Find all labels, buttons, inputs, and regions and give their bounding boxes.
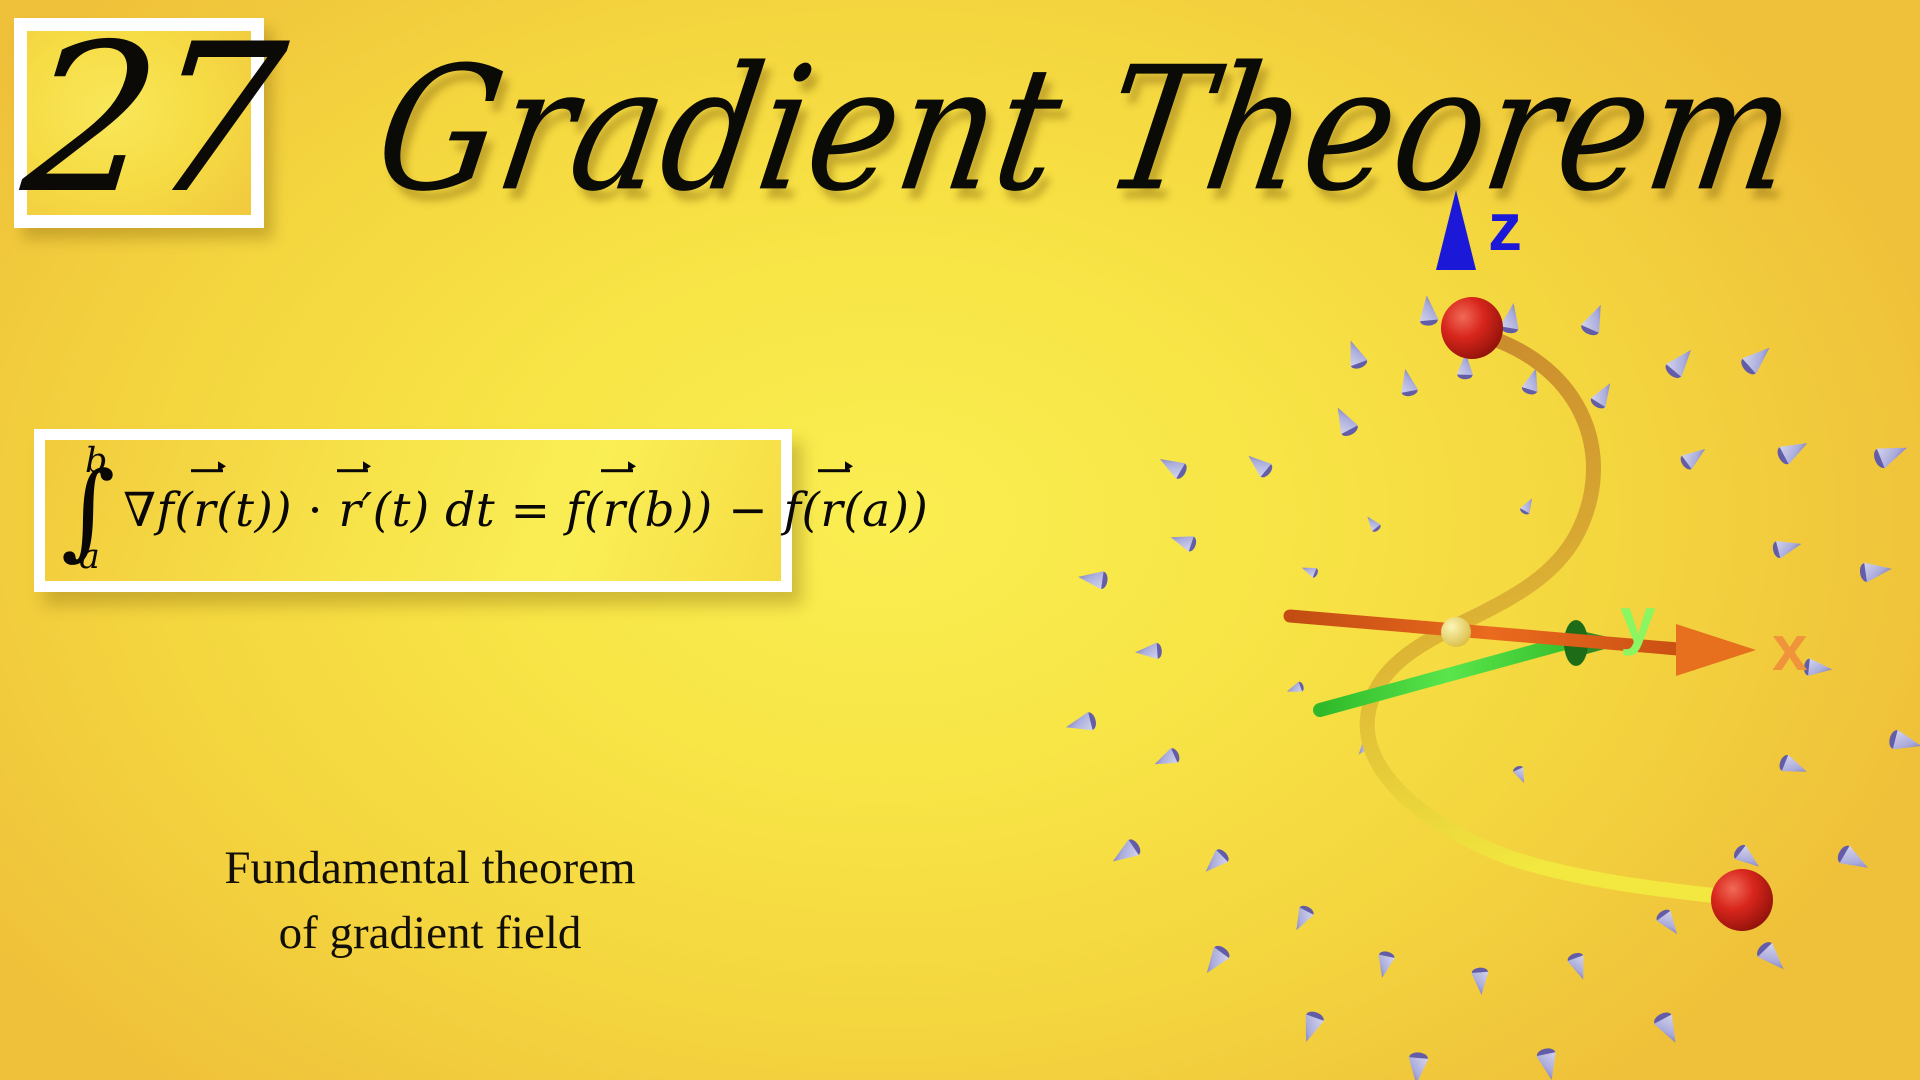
vector-r-1: r: [193, 483, 216, 538]
vector-arrow-tip-3: [628, 461, 636, 471]
arg-t-1: (t)): [216, 483, 292, 538]
origin-marker: [1441, 617, 1471, 647]
nabla-symbol: ∇: [123, 483, 156, 538]
integral-lower-limit: a: [79, 542, 100, 574]
vector-r-2: r: [339, 483, 362, 538]
vector-field-arrows: [1064, 294, 1920, 1080]
r-glyph-2: r: [339, 483, 362, 538]
function-f-1: f: [157, 483, 175, 538]
caption-block: Fundamental theorem of gradient field: [120, 836, 740, 966]
minus-symbol: −: [728, 483, 768, 538]
arg-t-2: (t): [373, 483, 430, 538]
prime-symbol: ′: [361, 483, 372, 538]
vector-r-4: r: [820, 483, 843, 538]
function-f-2: f: [566, 483, 584, 538]
formula-expression: ∫ b a ∇f(r(t)) · r′(t) dt = f(r(b)) − f(…: [59, 464, 771, 558]
slide-canvas: 27 Gradient Theorem ∫ b a ∇f(r(t)) · r′(…: [0, 0, 1920, 1080]
vector-arrow-tip-1: [218, 461, 226, 471]
integral-upper-limit: b: [85, 446, 107, 478]
axis-label-y: y: [1620, 584, 1656, 656]
dot-product-symbol: ·: [308, 483, 323, 538]
axis-label-x: x: [1772, 612, 1808, 684]
vector-r-3: r: [603, 483, 626, 538]
endpoint-b-sphere: [1441, 297, 1503, 359]
axis-label-z: z: [1488, 189, 1522, 265]
caption-line-2: of gradient field: [120, 901, 740, 966]
formula-body: ∇f(r(t)) · r′(t) dt = f(r(b)) − f(r(a)): [123, 483, 928, 538]
arg-a: (a)): [843, 483, 928, 538]
vector-arrow-tip-2: [363, 461, 371, 471]
gradient-field-figure: z y x: [1020, 150, 1910, 1050]
formula-plaque-inner: ∫ b a ∇f(r(t)) · r′(t) dt = f(r(b)) − f(…: [45, 440, 781, 581]
vector-arrow-tip-4: [845, 461, 853, 471]
paren-open-3: (: [801, 483, 820, 538]
r-glyph-4: r: [820, 483, 843, 538]
parametric-curve: [1367, 332, 1736, 898]
caption-line-1: Fundamental theorem: [120, 836, 740, 901]
paren-open-2: (: [584, 483, 603, 538]
axis-z: [1436, 190, 1476, 800]
slide-number-badge: 27: [14, 18, 264, 228]
function-f-3: f: [784, 483, 802, 538]
paren-open-1: (: [174, 483, 193, 538]
integral-symbol-group: ∫ b a: [59, 464, 121, 558]
equals-symbol: =: [511, 483, 551, 538]
arg-b: (b)): [626, 483, 713, 538]
slide-number-text: 27: [16, 15, 262, 225]
r-glyph-1: r: [193, 483, 216, 538]
endpoint-a-sphere: [1711, 869, 1773, 931]
r-glyph-3: r: [603, 483, 626, 538]
axis-x: [1290, 616, 1756, 676]
differential-dt: dt: [445, 483, 495, 538]
formula-plaque: ∫ b a ∇f(r(t)) · r′(t) dt = f(r(b)) − f(…: [34, 429, 792, 592]
